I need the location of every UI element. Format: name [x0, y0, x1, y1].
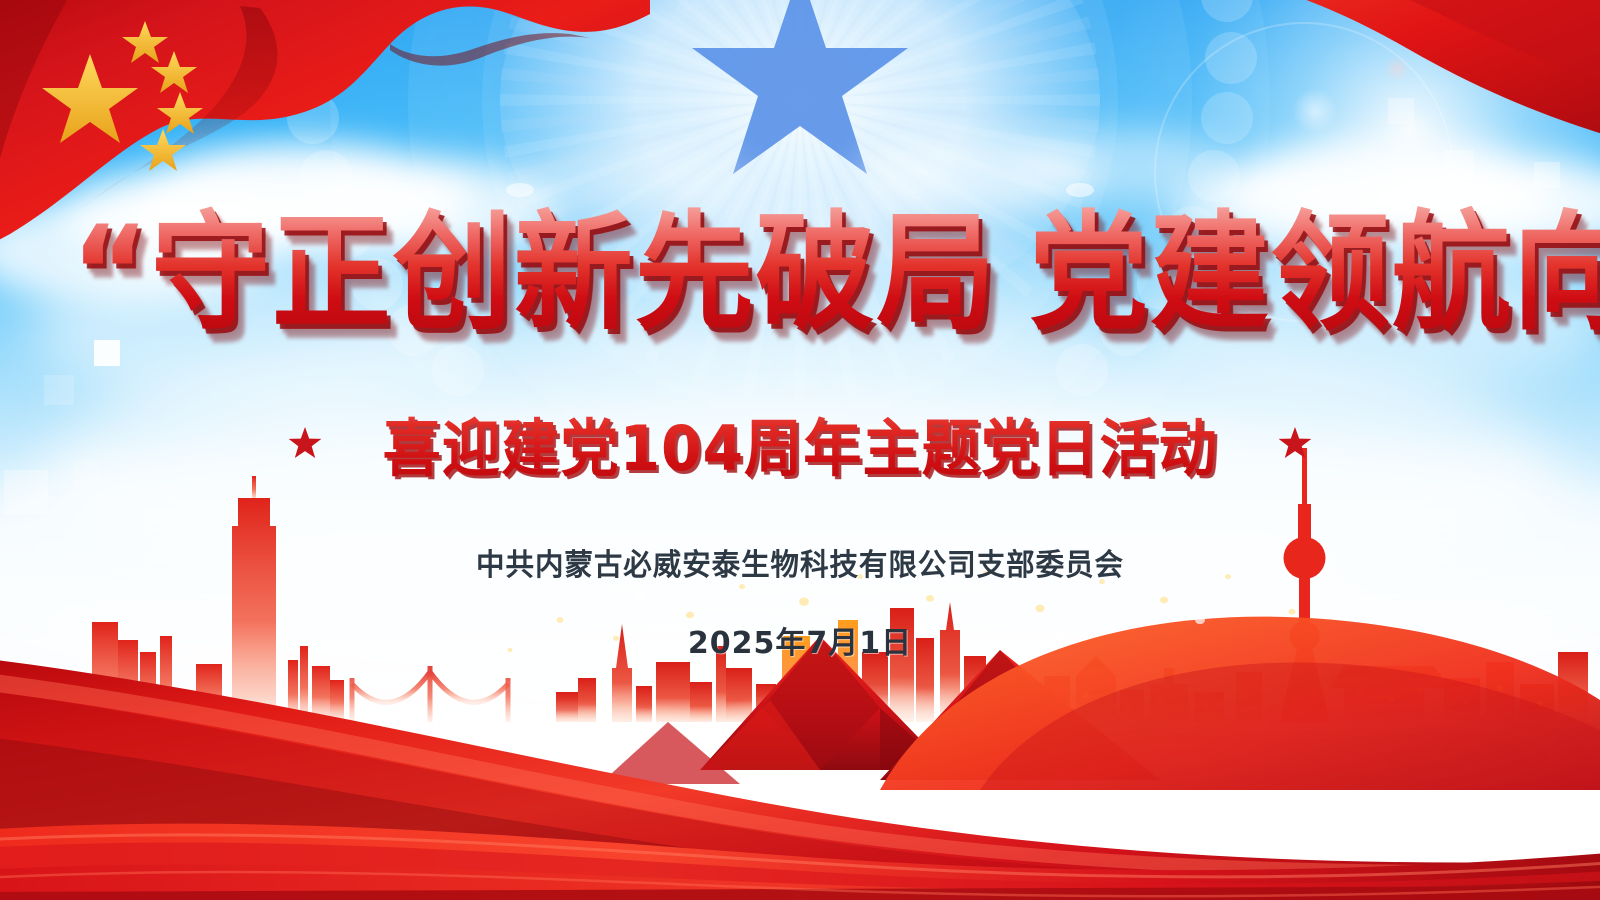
organization-name: 中共内蒙古必威安泰生物科技有限公司支部委员会 [40, 540, 1560, 584]
main-title-part1: “守正创新先破局 [71, 199, 997, 348]
bokeh-sparkles [0, 540, 1600, 840]
ribbon-wave-2 [0, 824, 1600, 900]
red-silk-ribbon-bottom [0, 540, 1600, 900]
city-skyline-silhouette [0, 440, 1600, 780]
red-star-icon-left [288, 426, 322, 460]
main-title-wrap: “守正创新先破局党建领航向阳生” [0, 206, 1600, 342]
ribbon-wave-main [0, 658, 1600, 900]
subtitle: 喜迎建党104周年主题党日活动 [382, 398, 1217, 488]
mist-fog [0, 582, 1600, 782]
skyline-right [996, 656, 1262, 722]
floating-square-particle [1388, 98, 1414, 124]
skyline-far-right [1328, 652, 1588, 722]
event-date: 2025年7月1日 [0, 618, 1600, 662]
red-star-icon-right [1278, 426, 1312, 460]
subtitle-row: 喜迎建党104周年主题党日活动 [0, 398, 1600, 488]
ribbon-wave-3 [0, 864, 1600, 900]
blue-star-icon [692, 0, 908, 174]
flag-small-star-4 [140, 129, 186, 171]
flag-small-star-3 [157, 92, 203, 134]
main-title-part2: 党建领航向阳生” [1029, 199, 1600, 348]
lens-flare-dot-1 [1292, 88, 1338, 134]
lens-flare-dot-2 [1384, 56, 1410, 82]
oriental-pearl-tower [1281, 448, 1328, 722]
floating-square-particle [1534, 162, 1560, 188]
medallion-dots [396, 0, 1204, 197]
skyline-lights [797, 677, 1543, 716]
bridge [340, 666, 520, 722]
flag-big-star [42, 54, 138, 143]
red-silk-ribbon-top [1080, 0, 1600, 200]
main-title: “守正创新先破局党建领航向阳生” [71, 206, 1600, 342]
skyline-left [92, 476, 344, 722]
party-day-poster: “守正创新先破局党建领航向阳生” 喜迎建党104周年主题党日活动 中共内蒙古必威… [0, 0, 1600, 900]
flag-small-star-1 [122, 21, 168, 63]
floating-square-particle [1444, 150, 1474, 180]
flag-small-star-2 [151, 51, 197, 93]
